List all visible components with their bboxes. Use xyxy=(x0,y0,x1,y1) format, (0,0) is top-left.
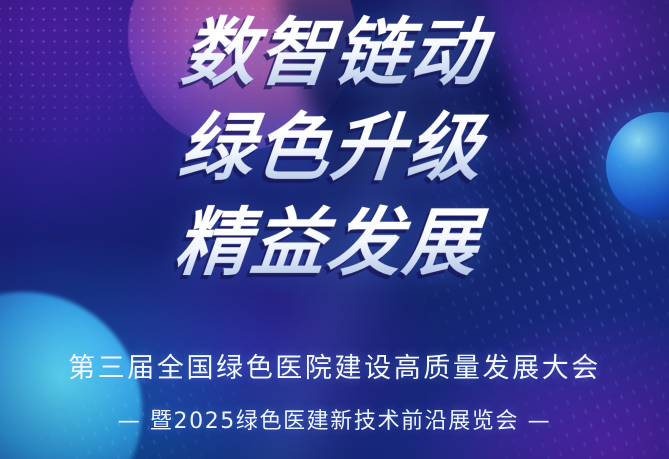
conference-banner: 数智链动 绿色升级 精益发展 第三届全国绿色医院建设高质量发展大会 — 暨202… xyxy=(0,0,669,459)
conference-title: 第三届全国绿色医院建设高质量发展大会 xyxy=(0,352,669,386)
headline-line-2: 绿色升级 xyxy=(0,101,669,196)
headline-line-1: 数智链动 xyxy=(0,6,669,101)
exhibition-subtitle: — 暨2025绿色医建新技术前沿展览会 — xyxy=(0,408,669,436)
headline-line-3: 精益发展 xyxy=(0,196,669,291)
headline-group: 数智链动 绿色升级 精益发展 xyxy=(0,6,669,291)
subtitle-group: 第三届全国绿色医院建设高质量发展大会 — 暨2025绿色医建新技术前沿展览会 — xyxy=(0,352,669,436)
